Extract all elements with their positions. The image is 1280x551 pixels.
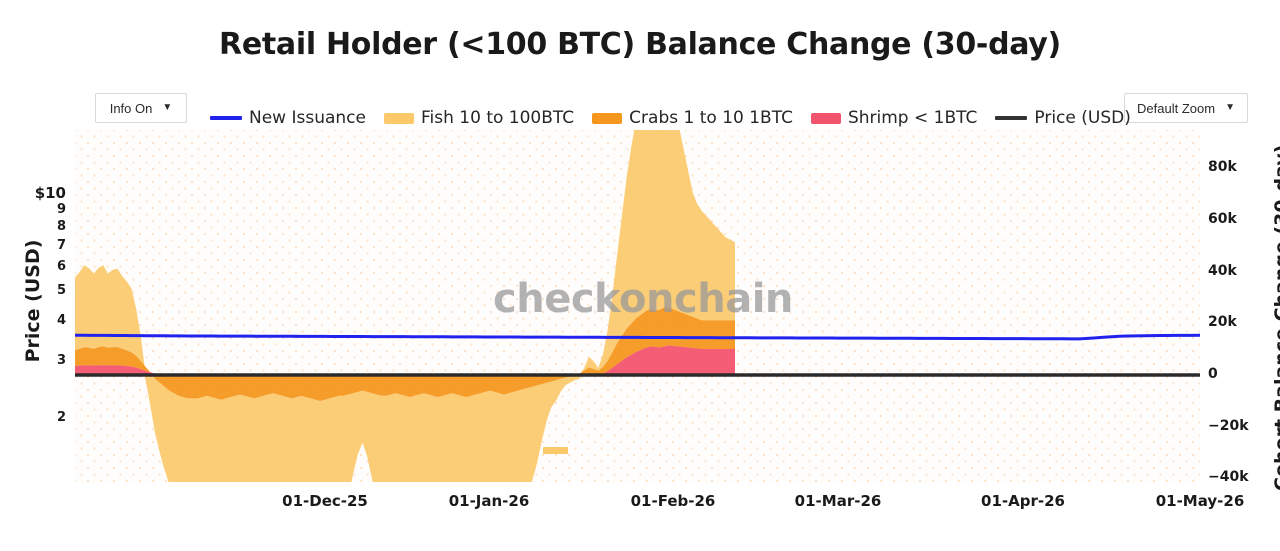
page-title: Retail Holder (<100 BTC) Balance Change …: [0, 27, 1280, 62]
legend-item-new-issuance[interactable]: New Issuance: [210, 108, 366, 128]
x-tick-label: 01-Feb-26: [598, 492, 748, 510]
y-left-tick-label: 5: [10, 283, 66, 298]
chart-page: Retail Holder (<100 BTC) Balance Change …: [0, 0, 1280, 551]
legend-swatch-icon: [592, 113, 622, 124]
chevron-down-icon: ▼: [1225, 103, 1235, 113]
chevron-down-icon: ▼: [162, 103, 172, 113]
legend-swatch-icon: [384, 113, 414, 124]
y-right-tick-label: 20k: [1208, 314, 1268, 330]
y-right-tick-label: −40k: [1208, 469, 1268, 485]
y-left-tick-label: 3: [10, 353, 66, 368]
y-right-tick-label: 0: [1208, 366, 1268, 382]
legend-label: Fish 10 to 100BTC: [421, 108, 574, 128]
y-right-tick-label: 60k: [1208, 211, 1268, 227]
plot-area[interactable]: [75, 130, 1200, 482]
x-tick-label: 01-Apr-26: [948, 492, 1098, 510]
legend-swatch-icon: [995, 116, 1027, 120]
y-left-tick-label: 9: [10, 202, 66, 217]
y-left-tick-label: 2: [10, 410, 66, 425]
legend-label: Crabs 1 to 10 1BTC: [629, 108, 793, 128]
plot-svg: [75, 130, 1200, 482]
legend-label: Shrimp < 1BTC: [848, 108, 977, 128]
y-left-tick-label: 6: [10, 259, 66, 274]
legend-swatch-icon: [811, 113, 841, 124]
y-right-tick-label: 80k: [1208, 159, 1268, 175]
y-left-tick-label: 7: [10, 238, 66, 253]
chart-legend: New IssuanceFish 10 to 100BTCCrabs 1 to …: [210, 106, 1149, 130]
y-right-tick-label: −20k: [1208, 418, 1268, 434]
legend-item-crabs-1-to-10-1btc[interactable]: Crabs 1 to 10 1BTC: [592, 108, 793, 128]
y-right-tick-label: 40k: [1208, 263, 1268, 279]
highlight-marker: [543, 447, 568, 454]
legend-swatch-icon: [210, 116, 242, 120]
legend-label: New Issuance: [249, 108, 366, 128]
y-left-tick-label: $10: [10, 184, 66, 202]
x-tick-label: 01-Jan-26: [414, 492, 564, 510]
info-dropdown-label: Info On: [110, 101, 153, 116]
legend-item-price-usd[interactable]: Price (USD): [995, 108, 1130, 128]
y-axis-right-title: Cohort Balance Change (30-day): [1271, 151, 1280, 491]
x-tick-label: 01-Mar-26: [763, 492, 913, 510]
x-tick-label: 01-May-26: [1125, 492, 1275, 510]
info-dropdown[interactable]: Info On ▼: [95, 93, 187, 123]
area-fish: [75, 130, 735, 482]
y-left-tick-label: 4: [10, 313, 66, 328]
legend-label: Price (USD): [1034, 108, 1130, 128]
legend-item-shrimp-1btc[interactable]: Shrimp < 1BTC: [811, 108, 977, 128]
legend-item-fish-10-to-100btc[interactable]: Fish 10 to 100BTC: [384, 108, 574, 128]
y-left-tick-label: 8: [10, 219, 66, 234]
x-tick-label: 01-Dec-25: [250, 492, 400, 510]
